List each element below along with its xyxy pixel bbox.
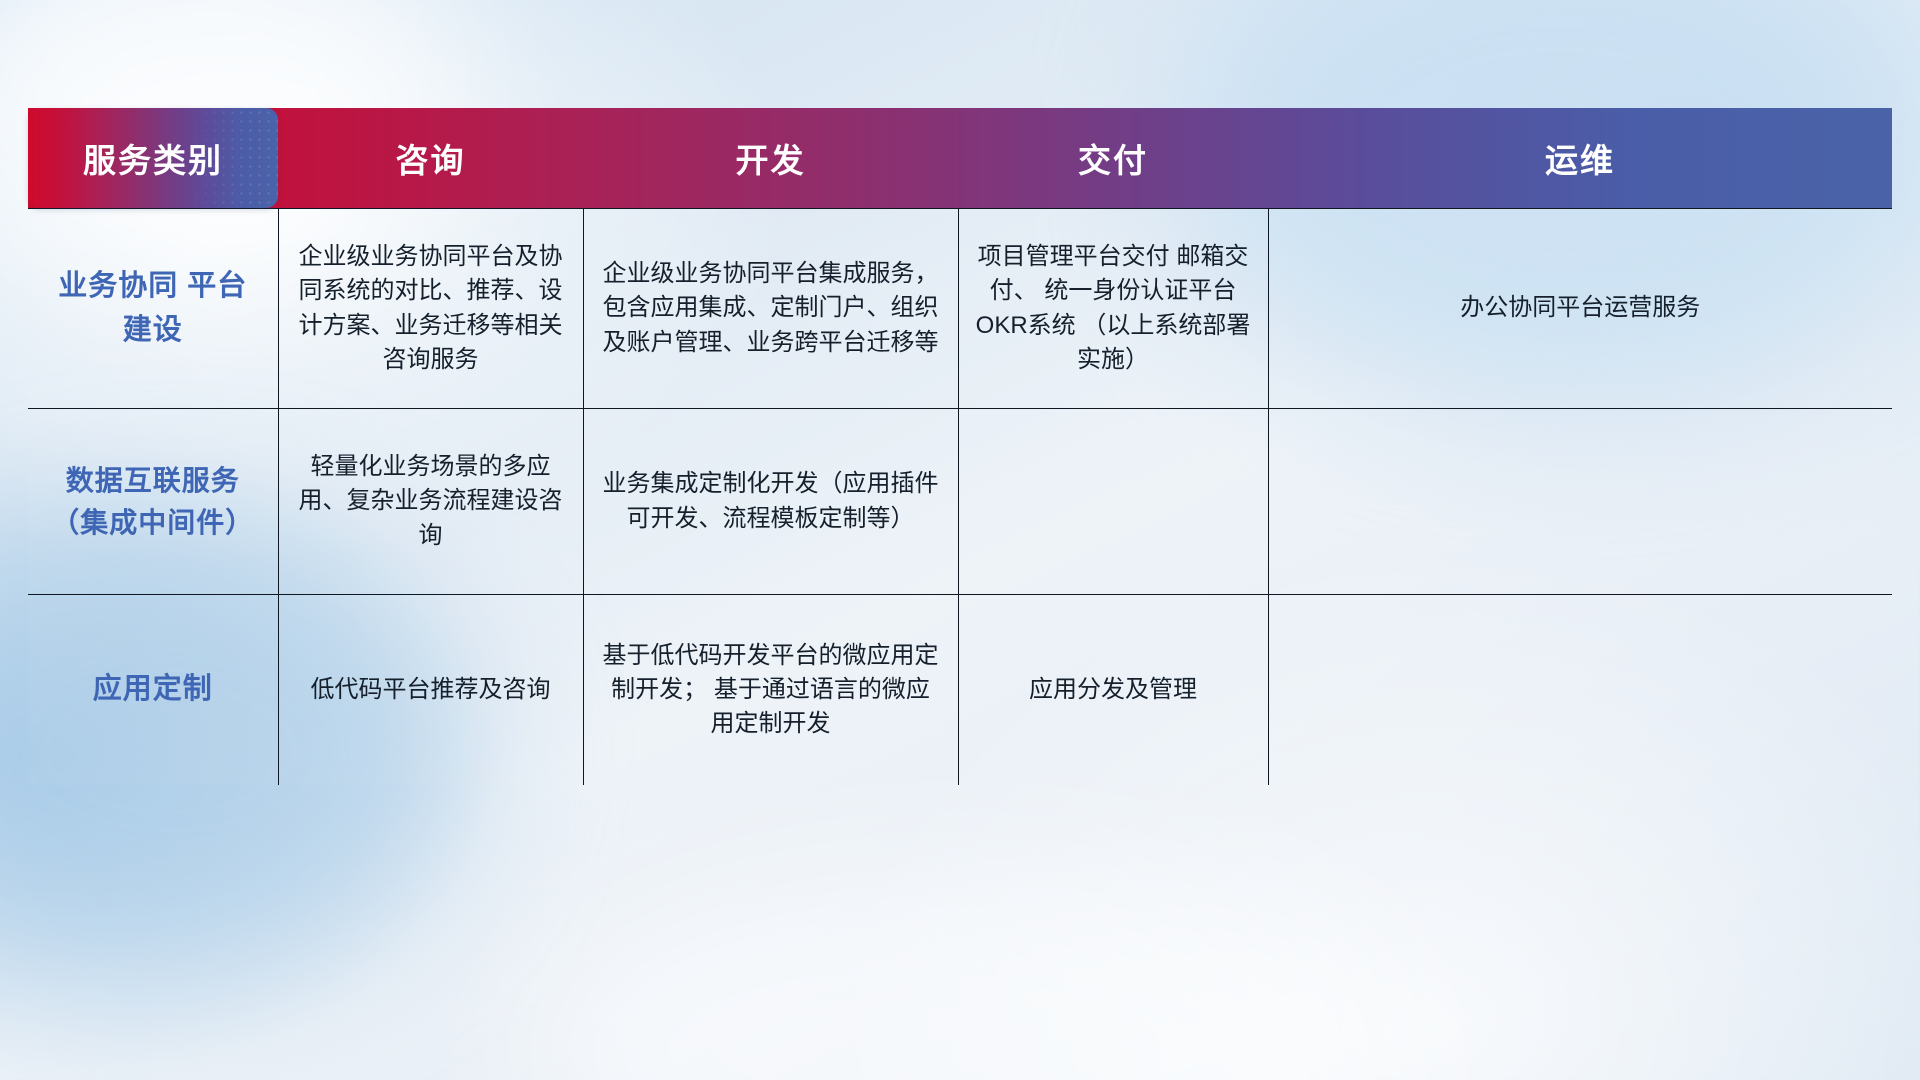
row-label-line-2: （集成中间件）	[51, 507, 254, 538]
cell-consulting-row2: 轻量化业务场景的多应用、复杂业务流程建设咨询	[278, 409, 583, 595]
header-label-consulting: 咨询	[396, 142, 466, 179]
background-glow-bottom	[520, 860, 1420, 1080]
cell-operations-row3	[1268, 595, 1892, 785]
table-body: 业务协同 平台建设 企业级业务协同平台及协同系统的对比、推荐、设计方案、业务迁移…	[28, 209, 1892, 785]
table-row: 应用定制 低代码平台推荐及咨询 基于低代码开发平台的微应用定制开发； 基于通过语…	[28, 595, 1892, 785]
cell-delivery-row3: 应用分发及管理	[958, 595, 1268, 785]
cell-delivery-row1: 项目管理平台交付 邮箱交付、 统一身份认证平台 OKR系统 （以上系统部署实施）	[958, 209, 1268, 409]
delivery-line-3: 统一身份认证平台	[1044, 277, 1236, 304]
header-label-delivery: 交付	[1078, 142, 1148, 179]
cell-development-row3: 基于低代码开发平台的微应用定制开发； 基于通过语言的微应用定制开发	[583, 595, 958, 785]
header-cell-operations: 运维	[1268, 108, 1892, 209]
delivery-line-4: OKR系统	[976, 312, 1076, 339]
table-header-row: 服务类别 咨询 开发 交付 运维	[28, 108, 1892, 209]
row-label-business-collaboration: 业务协同 平台建设	[28, 209, 278, 409]
row-label-line-1: 应用定制	[93, 673, 213, 705]
header-label-operations: 运维	[1545, 142, 1615, 179]
header-cell-delivery: 交付	[958, 108, 1268, 209]
cell-development-row1: 企业级业务协同平台集成服务，包含应用集成、定制门户、组织及账户管理、业务跨平台迁…	[583, 209, 958, 409]
delivery-line-1: 项目管理平台交付	[978, 243, 1170, 270]
slide-canvas: 服务类别 咨询 开发 交付 运维	[0, 0, 1920, 1080]
service-matrix-table: 服务类别 咨询 开发 交付 运维	[28, 108, 1892, 785]
table-row: 数据互联服务 （集成中间件） 轻量化业务场景的多应用、复杂业务流程建设咨询 业务…	[28, 409, 1892, 595]
header-cell-category: 服务类别	[28, 108, 278, 209]
header-label-development: 开发	[736, 142, 806, 179]
table-row: 业务协同 平台建设 企业级业务协同平台及协同系统的对比、推荐、设计方案、业务迁移…	[28, 209, 1892, 409]
row-label-line-1: 数据互联服务	[66, 465, 240, 496]
cell-development-row2: 业务集成定制化开发（应用插件可开发、流程模板定制等）	[583, 409, 958, 595]
header-label-category: 服务类别	[83, 142, 223, 179]
cell-operations-row2	[1268, 409, 1892, 595]
row-label-line-1: 业务协同	[58, 270, 178, 302]
row-label-app-customization: 应用定制	[28, 595, 278, 785]
table-header: 服务类别 咨询 开发 交付 运维	[28, 108, 1892, 209]
delivery-line-5: （以上系统部署实施）	[1077, 312, 1250, 373]
cell-consulting-row3: 低代码平台推荐及咨询	[278, 595, 583, 785]
service-matrix-table-wrapper: 服务类别 咨询 开发 交付 运维	[28, 108, 1892, 785]
cell-delivery-row2	[958, 409, 1268, 595]
cell-consulting-row1: 企业级业务协同平台及协同系统的对比、推荐、设计方案、业务迁移等相关咨询服务	[278, 209, 583, 409]
development-line-2: 基于通过语言的微应用定制开发	[711, 676, 930, 737]
header-cell-consulting: 咨询	[278, 108, 583, 209]
row-label-data-integration: 数据互联服务 （集成中间件）	[28, 409, 278, 595]
cell-operations-row1: 办公协同平台运营服务	[1268, 209, 1892, 409]
header-cell-development: 开发	[583, 108, 958, 209]
